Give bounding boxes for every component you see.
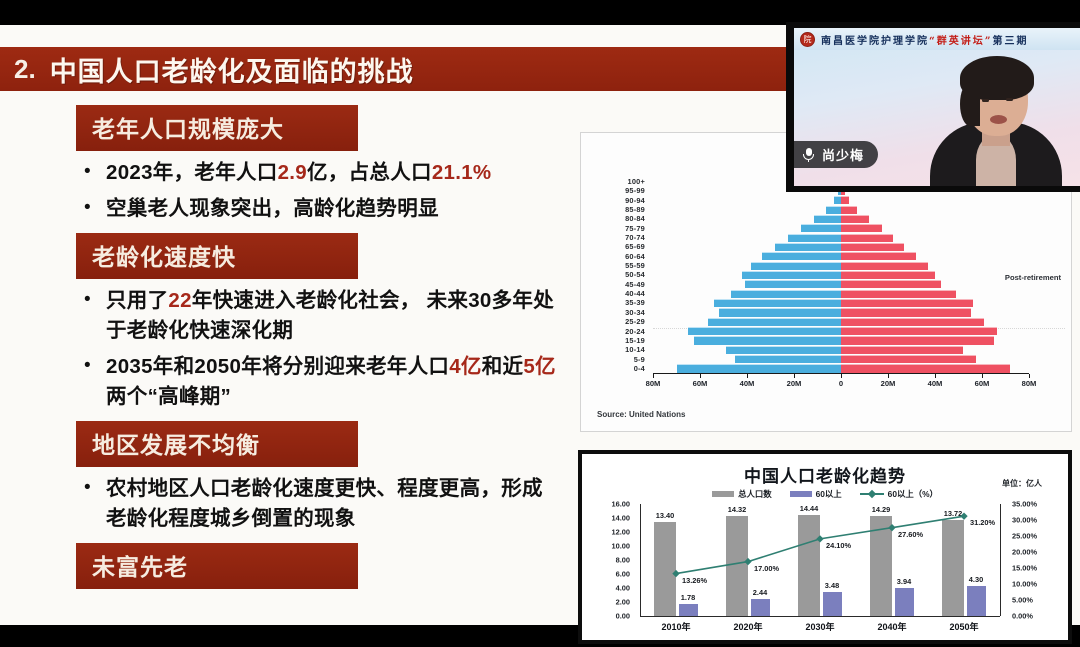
trend-legend: 总人口数 60以上 60以上（%） [582,488,1068,500]
mic-stem [808,159,810,162]
pyramid-bar-male [775,243,841,251]
pyramid-age-label: 5-9 [597,355,645,364]
legend-item-over60-pct: 60以上（%） [860,488,938,500]
bullet-text: 2023年，老年人口2.9亿，占总人口21.1% [106,158,491,188]
speaker-video-image [930,58,1062,186]
pyramid-bar-female [841,271,935,279]
pyramid-row: 85-89 [581,205,1071,214]
banner-quoted: “群英讲坛” [929,36,993,47]
bullet-text: 农村地区人口老龄化速度更快、程度更高，形成老龄化程度城乡倒置的现象 [106,474,558,534]
bullet-text-part: 亿，占总人口 [307,161,432,184]
video-feed: 南昌医学院护理学院“群英讲坛”第三期 尚少梅 [794,28,1080,186]
axis-category-label: 2010年 [661,620,690,633]
pyramid-row: 90-94 [581,196,1071,205]
legend-line-marker-icon [860,493,884,495]
axis-tick-label: 10.00% [1012,580,1037,589]
legend-item-over60: 60以上 [790,488,842,500]
line-value-label: 24.10% [826,541,851,550]
pyramid-row: 55-59 [581,261,1071,270]
pyramid-bar-pair [653,298,1029,307]
line-value-label: 31.20% [970,518,995,527]
axis-tick-label: 15.00% [1012,564,1037,573]
axis-tick-label: 0.00 [616,612,630,621]
pyramid-bar-pair [653,224,1029,233]
bullet-text: 只用了22年快速进入老龄化社会， 未来30多年处于老龄化快速深化期 [106,286,558,346]
pyramid-row: 20-24 [581,327,1071,336]
pyramid-bar-male [735,355,841,363]
pyramid-age-label: 40-44 [597,289,645,298]
banner-prefix: 南昌医学院护理学院 [821,36,929,47]
pyramid-bar-female [841,196,849,204]
pyramid-bar-male [688,327,841,335]
axis-tick-label: 0 [839,379,843,388]
pyramid-bar-female [841,206,857,214]
axis-tick-label: 6.00 [616,570,630,579]
pyramid-row: 30-34 [581,308,1071,317]
pyramid-age-label: 100+ [597,177,645,186]
bullet-text: 空巢老人现象突出，高龄化趋势明显 [106,194,439,224]
pyramid-bar-female [841,327,997,335]
pyramid-row: 65-69 [581,242,1071,251]
post-retirement-annotation: Post-retirement [1005,273,1061,282]
bullet-marker: • [84,158,106,186]
pyramid-age-label: 80-84 [597,214,645,223]
trend-left-axis: 0.002.004.006.008.0010.0012.0014.0016.00 [582,502,636,616]
pyramid-age-label: 25-29 [597,317,645,326]
pyramid-bar-male [762,252,841,260]
pyramid-age-label: 70-74 [597,233,645,242]
pyramid-bar-male [814,215,841,223]
axis-tick-label: 8.00 [616,556,630,565]
bullet-marker: • [84,352,106,380]
list-item: • 只用了22年快速进入老龄化社会， 未来30多年处于老龄化快速深化期 [0,286,570,346]
slide-title-number: 2. [14,54,36,85]
pyramid-rows: 100+95-9990-9485-8980-8475-7970-7465-696… [581,177,1071,373]
pyramid-row: 35-39 [581,298,1071,307]
pyramid-bar-female [841,308,971,316]
video-overlay[interactable]: 南昌医学院护理学院“群英讲坛”第三期 尚少梅 [786,22,1080,192]
trend-y2-axis-line [1000,504,1001,616]
pyramid-bar-male [714,299,841,307]
pyramid-age-label: 60-64 [597,252,645,261]
axis-category-label: 2030年 [805,620,834,633]
university-seal-icon [800,32,815,47]
list-item: • 2023年，老年人口2.9亿，占总人口21.1% [0,158,570,188]
pyramid-bar-pair [653,252,1029,261]
pyramid-plot-area: 100+95-9990-9485-8980-8475-7970-7465-696… [581,177,1071,395]
pyramid-bar-pair [653,261,1029,270]
pyramid-age-label: 10-14 [597,345,645,354]
axis-tick-label: 35.00% [1012,500,1037,509]
bullet-text-part: 和近 [482,355,524,378]
pyramid-bar-male [742,271,841,279]
axis-tick-label: 10.00 [612,542,631,551]
banner-suffix: 第三期 [993,36,1029,47]
axis-tick-label: 20M [787,379,802,388]
section-heading-1: 老年人口规模庞大 [76,105,358,151]
bullet-highlight: 2.9 [278,161,307,184]
pyramid-bar-pair [653,233,1029,242]
section-heading-4: 未富先老 [76,543,358,589]
axis-tick [841,374,842,378]
pyramid-row: 50-54 [581,270,1071,279]
pyramid-bar-male [751,262,841,270]
pyramid-bar-pair [653,214,1029,223]
video-banner: 南昌医学院护理学院“群英讲坛”第三期 [794,28,1080,50]
line-value-label: 17.00% [754,564,779,573]
pyramid-age-label: 15-19 [597,336,645,345]
pyramid-bar-male [731,290,841,298]
pyramid-row: 60-64 [581,252,1071,261]
axis-category-label: 2050年 [949,620,978,633]
pyramid-row: 45-49 [581,280,1071,289]
pyramid-row: 0-4 [581,364,1071,373]
pyramid-row: 10-14 [581,345,1071,354]
pyramid-age-label: 85-89 [597,205,645,214]
pyramid-bar-pair [653,336,1029,345]
bullet-list-2: • 只用了22年快速进入老龄化社会， 未来30多年处于老龄化快速深化期 • 20… [0,286,570,412]
trend-plot-area: 13.401.782010年14.322.442020年14.443.48203… [640,504,1000,616]
pyramid-bar-female [841,262,928,270]
axis-tick [888,374,889,378]
axis-tick-label: 20M [881,379,896,388]
banner-title: 南昌医学院护理学院“群英讲坛”第三期 [821,32,1029,47]
pyramid-row: 80-84 [581,214,1071,223]
axis-tick-label: 40M [928,379,943,388]
pyramid-row: 40-44 [581,289,1071,298]
axis-tick-label: 60M [975,379,990,388]
trend-right-axis: 0.00%5.00%10.00%15.00%20.00%25.00%30.00%… [1002,502,1062,616]
list-item: • 空巢老人现象突出，高龄化趋势明显 [0,194,570,224]
pyramid-bar-pair [653,289,1029,298]
pyramid-bar-pair [653,355,1029,364]
bullet-highlight: 21.1% [432,161,492,184]
pyramid-bar-female [841,336,994,344]
pyramid-bar-female [841,299,973,307]
pyramid-bar-male [788,234,841,242]
slide-title-bar: 2. 中国人口老龄化及面临的挑战 [0,47,790,91]
list-item: • 农村地区人口老龄化速度更快、程度更高，形成老龄化程度城乡倒置的现象 [0,474,570,534]
pyramid-bar-pair [653,364,1029,373]
bullet-text: 2035年和2050年将分别迎来老年人口4亿和近5亿两个“高峰期” [106,352,558,412]
content-column: 老年人口规模庞大 • 2023年，老年人口2.9亿，占总人口21.1% • 空巢… [0,105,570,589]
pyramid-bar-male [677,364,842,372]
speaker-name: 尚少梅 [822,145,864,164]
pyramid-age-label: 55-59 [597,261,645,270]
axis-tick [794,374,795,378]
trend-x-axis-line [640,616,1000,617]
axis-tick-label: 2.00 [616,598,630,607]
pyramid-age-label: 35-39 [597,298,645,307]
trend-chart-title: 中国人口老龄化趋势 [582,462,1068,487]
axis-tick-label: 40M [740,379,755,388]
line-value-label: 13.26% [682,576,707,585]
pyramid-x-axis: 80M60M40M20M020M40M60M80M [653,373,1029,395]
speaker-name-badge: 尚少梅 [794,141,878,168]
bullet-highlight: 5亿 [523,355,556,378]
axis-tick [700,374,701,378]
bullet-highlight: 22 [168,289,191,312]
bullet-list-3: • 农村地区人口老龄化速度更快、程度更高，形成老龄化程度城乡倒置的现象 [0,474,570,534]
axis-category-label: 2040年 [877,620,906,633]
line-value-label: 27.60% [898,530,923,539]
bullet-text-part: 2035年和2050年将分别迎来老年人口 [106,355,449,378]
axis-tick-label: 4.00 [616,584,630,593]
bullet-marker: • [84,194,106,222]
axis-tick-label: 60M [693,379,708,388]
pyramid-age-label: 65-69 [597,242,645,251]
axis-tick-label: 12.00 [612,528,631,537]
pyramid-bar-female [841,290,956,298]
pyramid-bar-male [708,318,841,326]
legend-label: 60以上 [816,488,842,500]
pyramid-bar-female [841,280,941,288]
pyramid-age-label: 95-99 [597,186,645,195]
axis-tick [982,374,983,378]
bullet-highlight: 4亿 [449,355,482,378]
axis-tick-label: 5.00% [1012,596,1033,605]
axis-tick-label: 25.00% [1012,532,1037,541]
speaker-eye-right [1006,98,1013,101]
microphone-icon [802,147,815,163]
axis-tick-label: 16.00 [612,500,631,509]
pyramid-bar-female [841,364,1010,372]
pyramid-bar-pair [653,270,1029,279]
legend-label: 总人口数 [738,488,772,500]
legend-swatch-icon [790,491,812,497]
pyramid-bar-female [841,318,984,326]
pyramid-row: 70-74 [581,233,1071,242]
pyramid-bar-pair [653,196,1029,205]
pyramid-age-label: 45-49 [597,280,645,289]
pyramid-row: 5-9 [581,355,1071,364]
pyramid-bar-male [726,346,841,354]
trend-percentage-line [640,504,1000,616]
section-heading-2: 老龄化速度快 [76,233,358,279]
bullet-marker: • [84,474,106,502]
axis-tick-label: 20.00% [1012,548,1037,557]
pyramid-age-label: 90-94 [597,196,645,205]
bullet-text-part: 两个“高峰期” [106,385,231,408]
axis-tick [653,374,654,378]
screen: 2. 中国人口老龄化及面临的挑战 老年人口规模庞大 • 2023年，老年人口2.… [0,0,1080,647]
pyramid-age-label: 30-34 [597,308,645,317]
legend-label: 60以上（%） [888,488,938,500]
speaker-mouth [990,115,1007,124]
pyramid-row: 75-79 [581,224,1071,233]
pyramid-bar-female [841,215,869,223]
pyramid-age-label: 20-24 [597,327,645,336]
pyramid-bar-female [841,252,916,260]
pyramid-bar-male [745,280,841,288]
axis-tick-label: 14.00 [612,514,631,523]
bullet-list-1: • 2023年，老年人口2.9亿，占总人口21.1% • 空巢老人现象突出，高龄… [0,158,570,224]
pyramid-bar-pair [653,327,1029,336]
pyramid-bar-pair [653,242,1029,251]
pyramid-bar-pair [653,308,1029,317]
pyramid-bar-male [826,206,841,214]
axis-tick-label: 0.00% [1012,612,1033,621]
pyramid-bar-female [841,346,963,354]
pyramid-bar-pair [653,205,1029,214]
pyramid-age-label: 50-54 [597,270,645,279]
axis-tick-label: 80M [1022,379,1037,388]
pyramid-source-note: Source: United Nations [597,410,685,419]
pyramid-bar-pair [653,280,1029,289]
axis-tick [1029,374,1030,378]
legend-swatch-icon [712,491,734,497]
axis-tick-label: 30.00% [1012,516,1037,525]
pyramid-bar-male [719,308,841,316]
pyramid-bar-female [841,355,976,363]
axis-tick-label: 80M [646,379,661,388]
pyramid-bar-female [841,224,882,232]
pyramid-bar-male [801,224,841,232]
speaker-eye-left [982,99,989,102]
pyramid-bar-male [834,196,841,204]
bullet-text-part: 2023年，老年人口 [106,161,278,184]
speaker-hair-side [960,82,980,126]
pyramid-bar-female [841,243,904,251]
pyramid-row: 25-29 [581,317,1071,326]
pyramid-age-label: 0-4 [597,364,645,373]
section-heading-3: 地区发展不均衡 [76,421,358,467]
pyramid-bar-pair [653,345,1029,354]
page-title: 中国人口老龄化及面临的挑战 [50,50,414,89]
axis-tick [935,374,936,378]
bullet-marker: • [84,286,106,314]
pyramid-bar-male [694,336,841,344]
pyramid-bar-pair [653,317,1029,326]
pyramid-age-label: 75-79 [597,224,645,233]
legend-item-total: 总人口数 [712,488,772,500]
aging-trend-chart: 中国人口老龄化趋势 单位：亿人 总人口数 60以上 60以上（%） 0.002.… [578,450,1072,644]
pyramid-row: 15-19 [581,336,1071,345]
pyramid-bar-female [841,234,893,242]
bullet-text-part: 只用了 [106,289,168,312]
axis-tick [747,374,748,378]
axis-category-label: 2020年 [733,620,762,633]
list-item: • 2035年和2050年将分别迎来老年人口4亿和近5亿两个“高峰期” [0,352,570,412]
